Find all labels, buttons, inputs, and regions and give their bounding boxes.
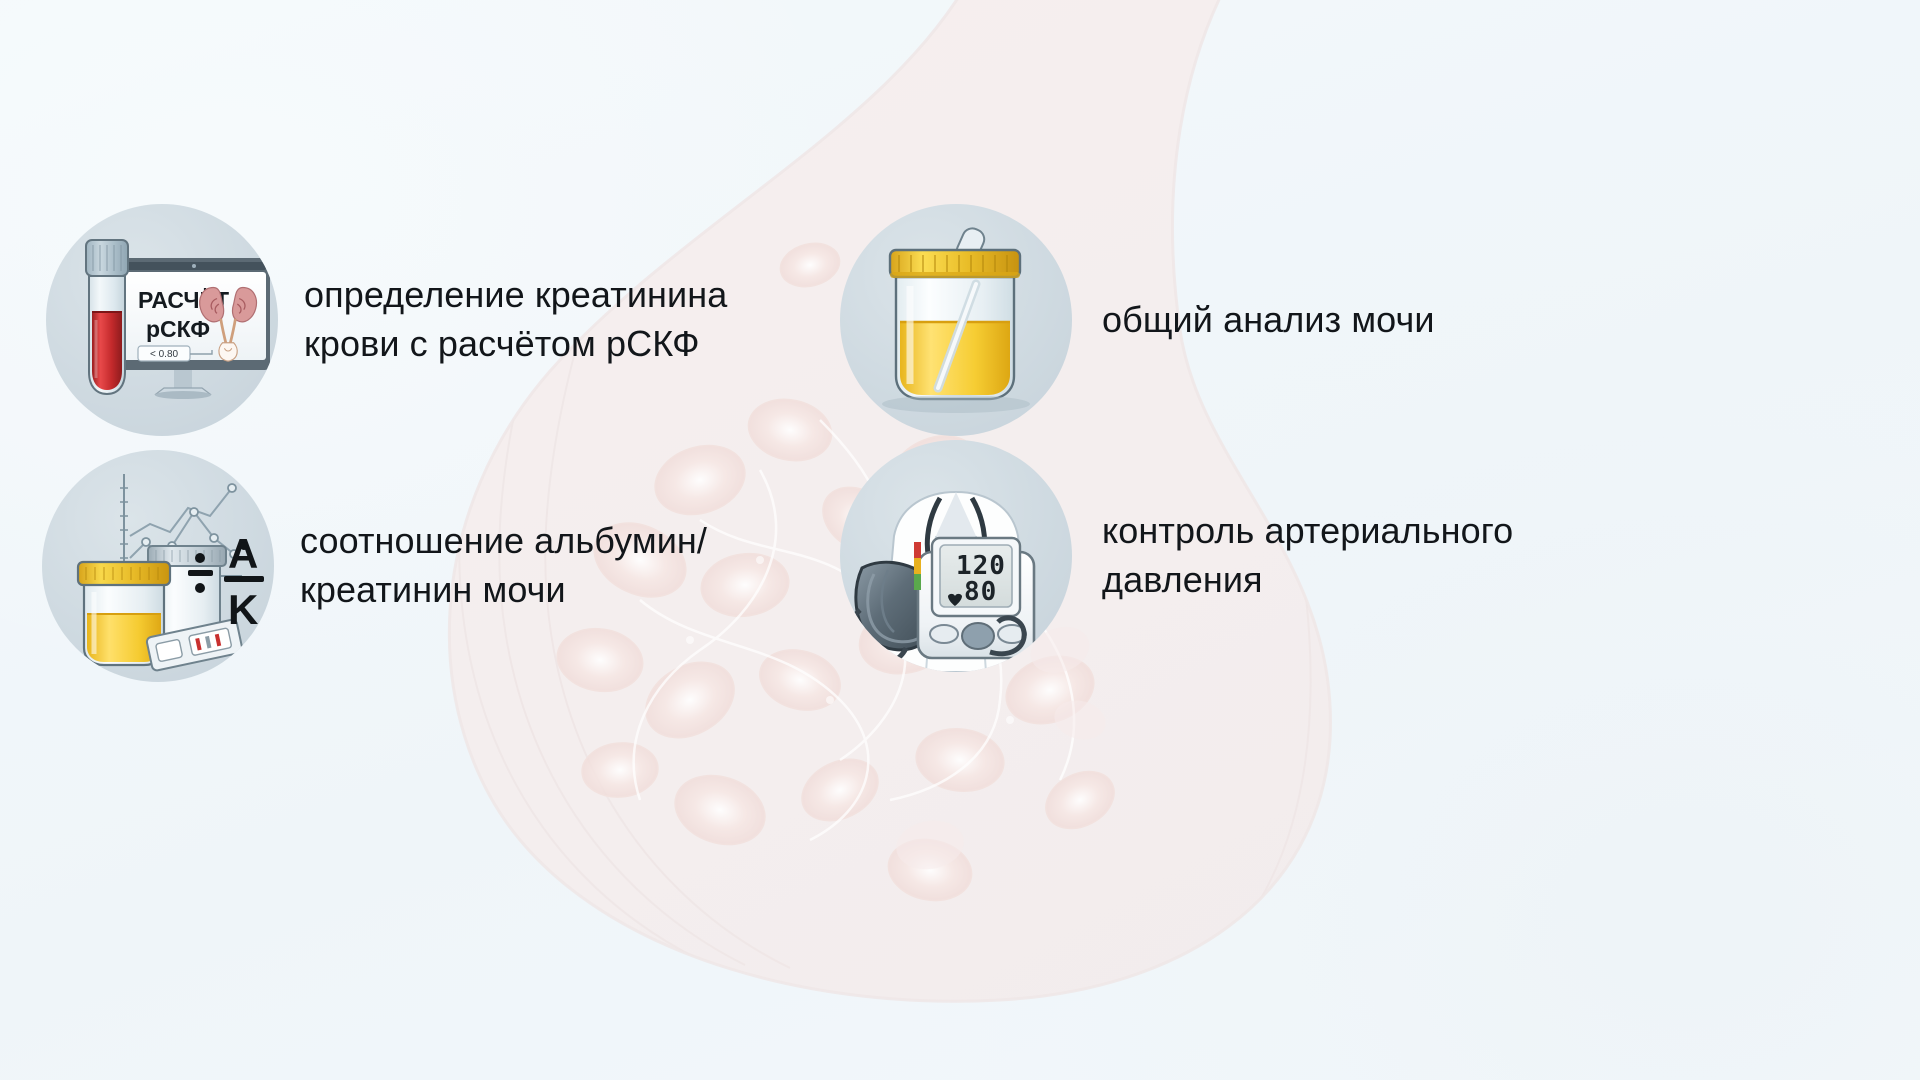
svg-text:A: A	[228, 530, 258, 577]
blood-pressure-monitor-icon: 120 80	[840, 440, 1072, 672]
list-item-urine-analysis[interactable]: общий анализ мочи	[840, 204, 1435, 436]
list-item-egfr[interactable]: РАСЧЁТ рСКФ < 0.80	[46, 204, 727, 436]
svg-text:< 0.80: < 0.80	[150, 349, 179, 360]
list-item-label: соотношение альбумин/ креатинин мочи	[300, 517, 707, 614]
urine-containers-albumin-creatinine-ratio-icon: A K	[42, 450, 274, 682]
list-item-label: определение креатинина крови с расчётом …	[304, 271, 727, 368]
blood-tube-and-monitor-egfr-icon: РАСЧЁТ рСКФ < 0.80	[46, 204, 278, 436]
svg-text:рСКФ: рСКФ	[146, 316, 210, 342]
content-area: РАСЧЁТ рСКФ < 0.80	[0, 0, 1920, 1080]
list-item-label: общий анализ мочи	[1102, 296, 1435, 345]
urine-sample-jar-with-pipette-icon	[840, 204, 1072, 436]
list-item-label: контроль артериального давления	[1102, 507, 1513, 604]
list-item-blood-pressure[interactable]: 120 80	[840, 440, 1513, 672]
svg-text:K: K	[228, 586, 258, 633]
list-item-acr[interactable]: A K соотношение альбумин/ креатинин мочи	[42, 450, 707, 682]
lcd-diastolic: 80	[964, 577, 997, 607]
